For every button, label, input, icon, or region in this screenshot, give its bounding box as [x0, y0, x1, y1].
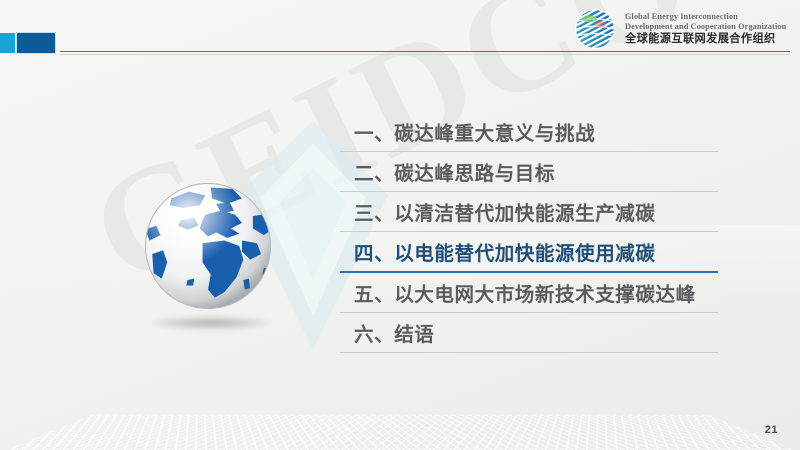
agenda-row[interactable]: 二、碳达峰思路与目标 [340, 152, 718, 192]
logo-english-line-2: Development and Cooperation Organization [625, 22, 786, 32]
agenda-item-label: 二、碳达峰思路与目标 [340, 157, 555, 186]
logo-text-block: Global Energy Interconnection Developmen… [625, 12, 786, 46]
presentation-slide: GEIDCO [0, 0, 800, 450]
header-rule-line-secondary [60, 54, 790, 55]
geidco-globe-stripes-logo-icon [572, 6, 618, 52]
agenda-item-label: 六、结语 [340, 318, 434, 347]
agenda-row[interactable]: 三、以清洁替代加快能源生产减碳 [340, 192, 718, 232]
logo-english-line-1: Global Energy Interconnection [625, 12, 786, 22]
agenda-item-label: 五、以大电网大市场新技术支撑碳达峰 [340, 278, 696, 307]
agenda-list: 一、碳达峰重大意义与挑战 二、碳达峰思路与目标 三、以清洁替代加快能源生产减碳 … [340, 112, 718, 353]
globe-drop-shadow [150, 316, 272, 330]
page-number: 21 [765, 424, 778, 436]
agenda-item-label: 三、以清洁替代加快能源生产减碳 [340, 197, 656, 226]
agenda-row[interactable]: 五、以大电网大市场新技术支撑碳达峰 [340, 273, 718, 313]
organization-logo: Global Energy Interconnection Developmen… [572, 6, 786, 52]
header-accent-square-dark [16, 32, 56, 54]
globe-illustration [140, 178, 292, 343]
agenda-item-label: 一、碳达峰重大意义与挑战 [340, 117, 595, 146]
agenda-item-label: 四、以电能替代加快能源使用减碳 [340, 237, 656, 266]
header-accent-square-light [0, 33, 15, 53]
agenda-row[interactable]: 六、结语 [340, 313, 718, 353]
agenda-row-active[interactable]: 四、以电能替代加快能源使用减碳 [340, 232, 718, 273]
earth-globe-icon [140, 178, 276, 314]
agenda-row[interactable]: 一、碳达峰重大意义与挑战 [340, 112, 718, 152]
logo-chinese-name: 全球能源互联网发展合作组织 [625, 33, 786, 46]
